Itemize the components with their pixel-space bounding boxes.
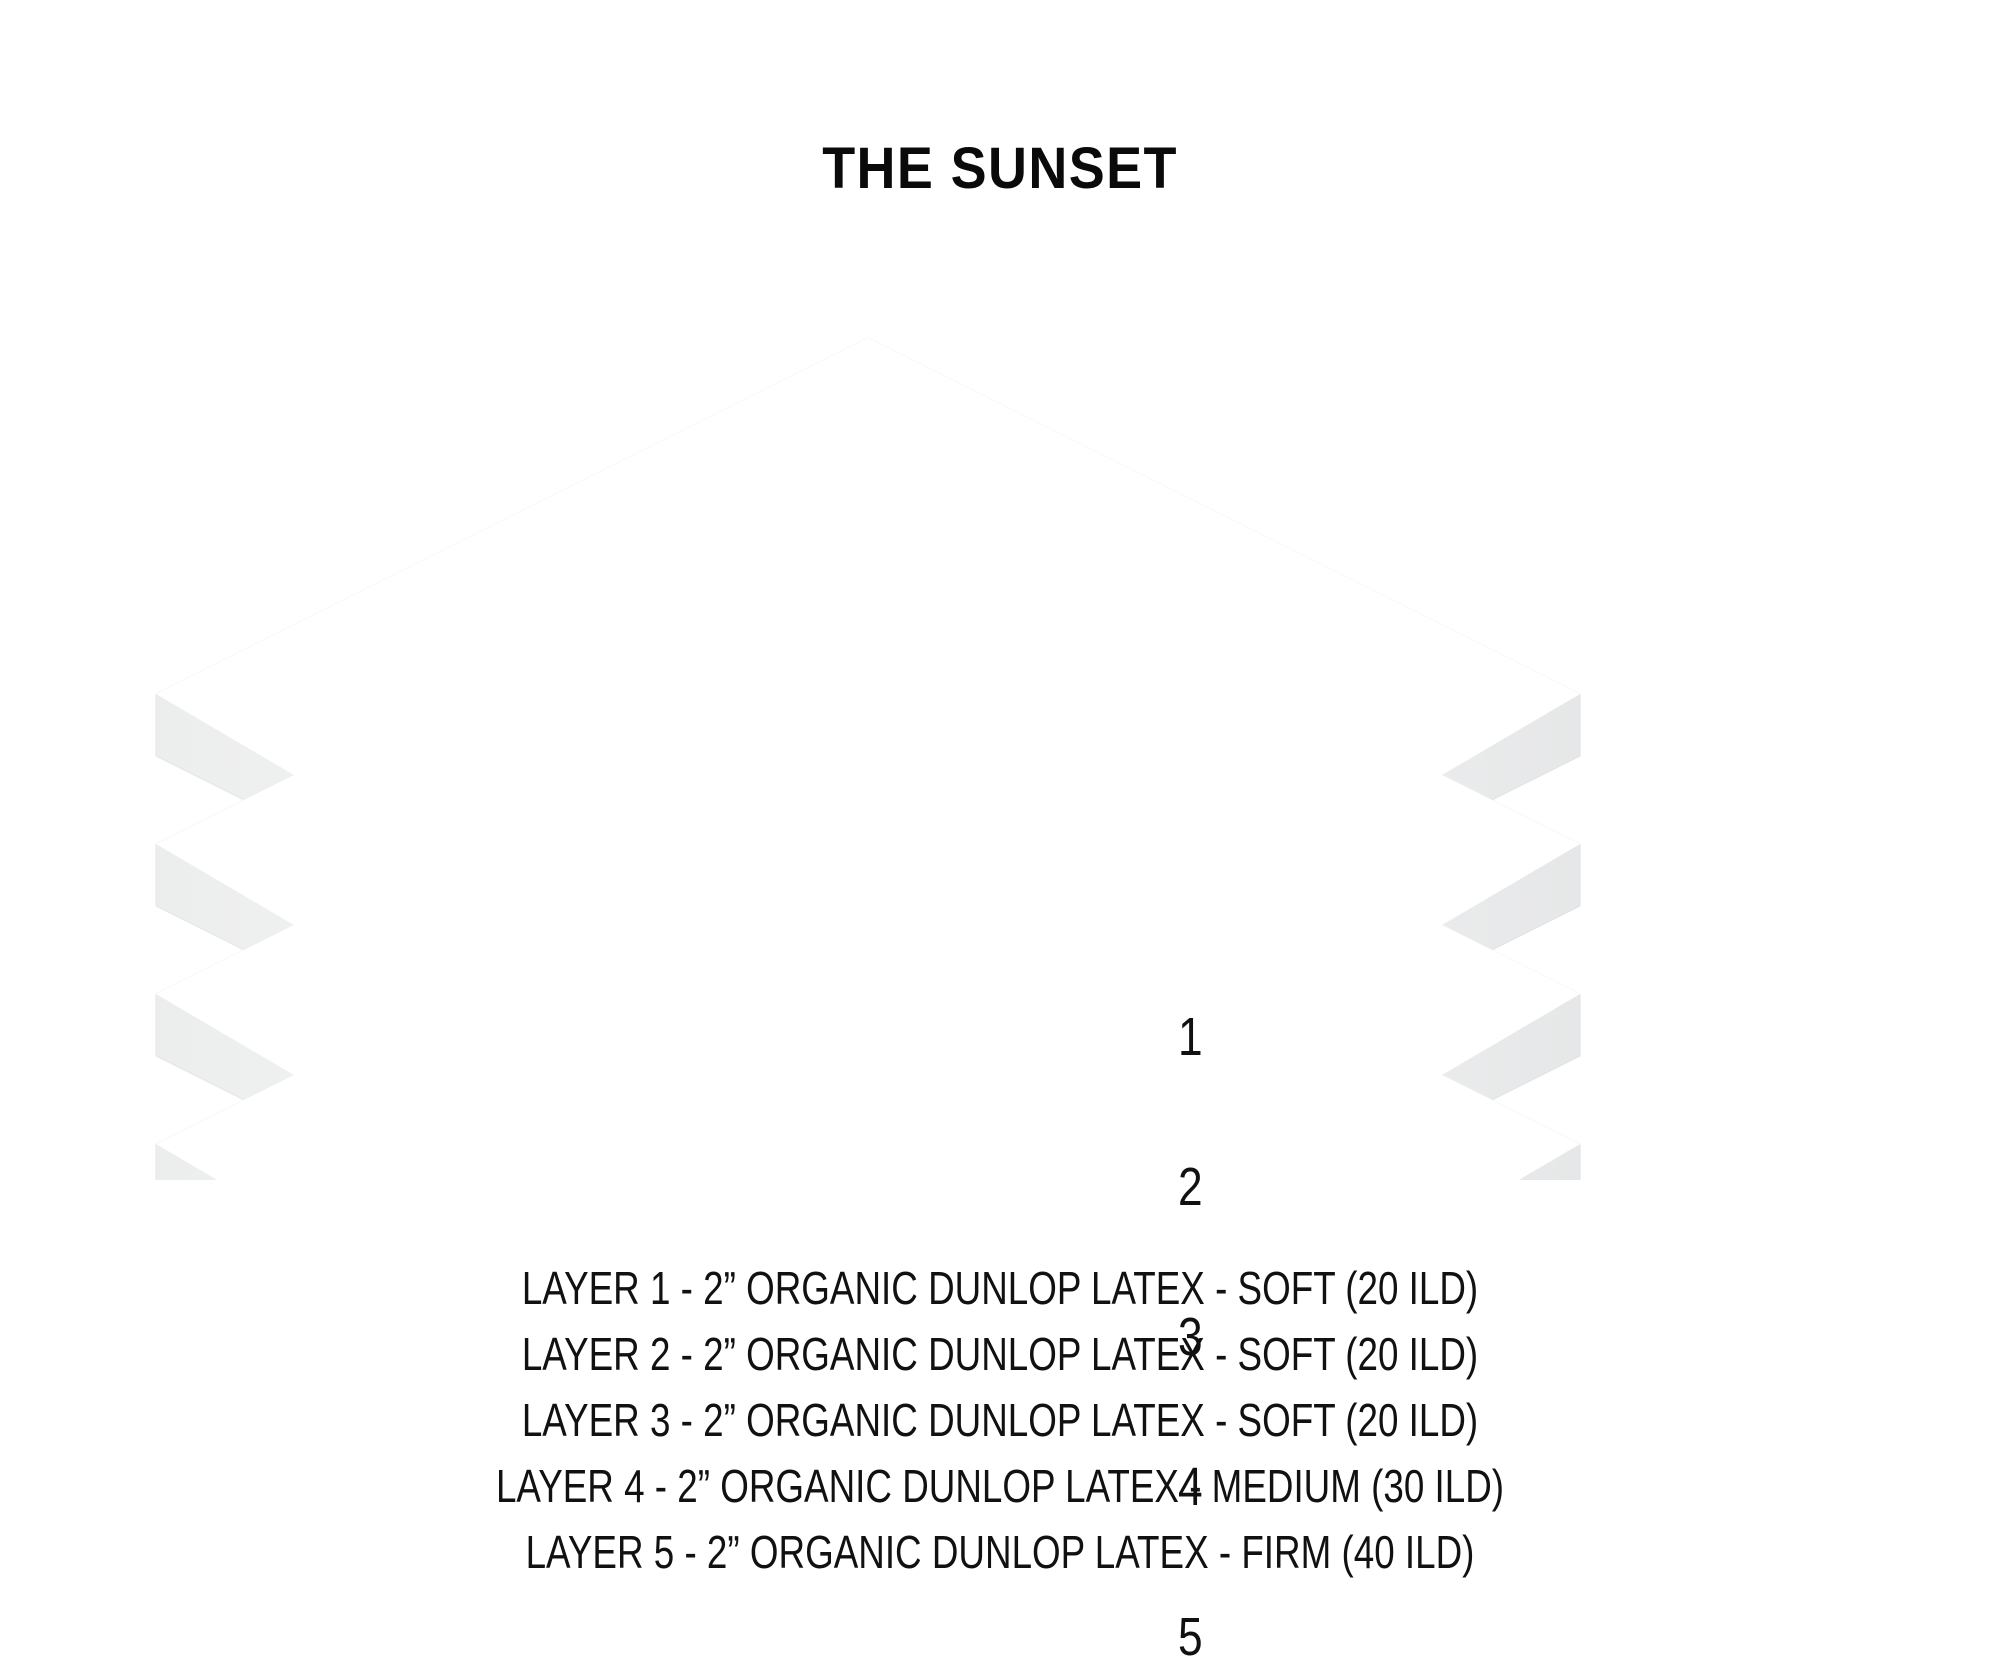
- product-layer-diagram-page: THE SUNSET: [0, 0, 2000, 1637]
- layer-stack-diagram: 12345: [0, 0, 2000, 1180]
- layer-stack-svg: [0, 0, 2000, 1180]
